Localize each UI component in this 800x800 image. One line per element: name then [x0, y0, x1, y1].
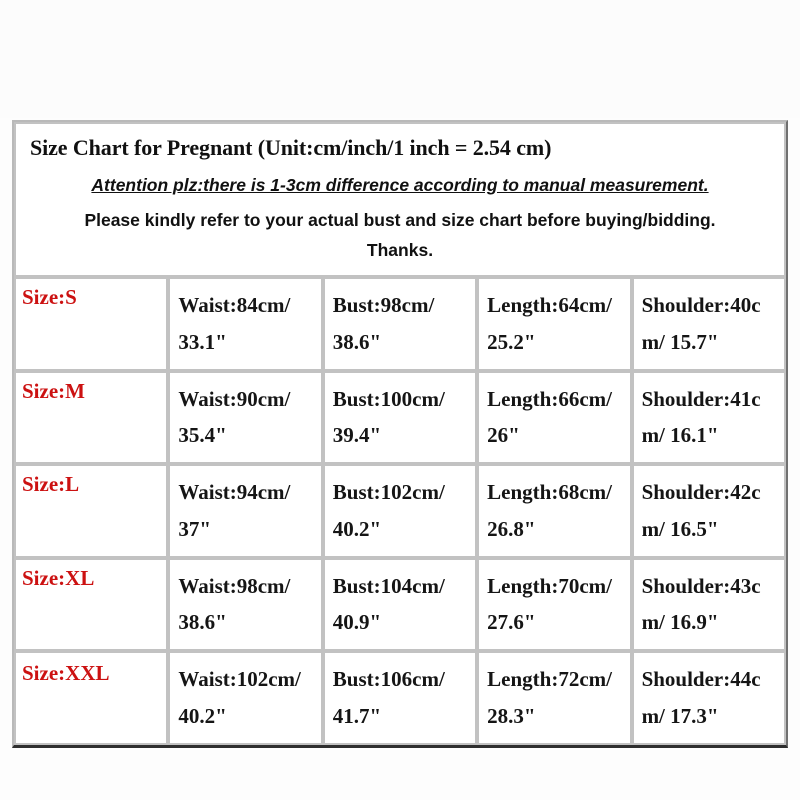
shoulder-cell-l: Shoulder:42cm/ 16.5" [632, 464, 786, 558]
size-label: Size:XXL [22, 661, 162, 686]
waist-value: Waist:102cm/ 40.2" [178, 661, 314, 735]
length-cell-m: Length:66cm/ 26" [477, 371, 631, 465]
size-cell-xxl: Size:XXL [14, 651, 168, 745]
size-cell-xl: Size:XL [14, 558, 168, 652]
size-chart-body: Size Chart for Pregnant (Unit:cm/inch/1 … [14, 122, 786, 745]
shoulder-cell-m: Shoulder:41cm/ 16.1" [632, 371, 786, 465]
waist-value: Waist:84cm/ 33.1" [178, 287, 314, 361]
waist-cell-m: Waist:90cm/ 35.4" [168, 371, 322, 465]
length-value: Length:72cm/ 28.3" [487, 661, 623, 735]
bust-cell-l: Bust:102cm/ 40.2" [323, 464, 477, 558]
length-value: Length:70cm/ 27.6" [487, 568, 623, 642]
size-cell-m: Size:M [14, 371, 168, 465]
bust-cell-m: Bust:100cm/ 39.4" [323, 371, 477, 465]
shoulder-value: Shoulder:42cm/ 16.5" [642, 474, 778, 548]
bust-value: Bust:102cm/ 40.2" [333, 474, 469, 548]
size-label: Size:S [22, 285, 162, 310]
bust-value: Bust:106cm/ 41.7" [333, 661, 469, 735]
size-label: Size:M [22, 379, 162, 404]
bust-value: Bust:100cm/ 39.4" [333, 381, 469, 455]
bust-value: Bust:104cm/ 40.9" [333, 568, 469, 642]
size-cell-l: Size:L [14, 464, 168, 558]
header-row: Size Chart for Pregnant (Unit:cm/inch/1 … [14, 122, 786, 277]
waist-value: Waist:90cm/ 35.4" [178, 381, 314, 455]
size-chart-page: Size Chart for Pregnant (Unit:cm/inch/1 … [0, 0, 800, 800]
waist-value: Waist:94cm/ 37" [178, 474, 314, 548]
attention-notice: Attention plz:there is 1-3cm difference … [24, 174, 776, 197]
buying-note: Please kindly refer to your actual bust … [24, 208, 776, 233]
shoulder-cell-s: Shoulder:40cm/ 15.7" [632, 277, 786, 371]
shoulder-value: Shoulder:41cm/ 16.1" [642, 381, 778, 455]
length-cell-l: Length:68cm/ 26.8" [477, 464, 631, 558]
top-whitespace-band [0, 0, 800, 118]
table-row: Size:XL Waist:98cm/ 38.6" Bust:104cm/ 40… [14, 558, 786, 652]
waist-value: Waist:98cm/ 38.6" [178, 568, 314, 642]
bust-value: Bust:98cm/ 38.6" [333, 287, 469, 361]
length-cell-xxl: Length:72cm/ 28.3" [477, 651, 631, 745]
table-row: Size:M Waist:90cm/ 35.4" Bust:100cm/ 39.… [14, 371, 786, 465]
bust-cell-xxl: Bust:106cm/ 41.7" [323, 651, 477, 745]
waist-cell-l: Waist:94cm/ 37" [168, 464, 322, 558]
waist-cell-s: Waist:84cm/ 33.1" [168, 277, 322, 371]
length-value: Length:68cm/ 26.8" [487, 474, 623, 548]
bust-cell-s: Bust:98cm/ 38.6" [323, 277, 477, 371]
size-cell-s: Size:S [14, 277, 168, 371]
size-label: Size:XL [22, 566, 162, 591]
table-row: Size:S Waist:84cm/ 33.1" Bust:98cm/ 38.6… [14, 277, 786, 371]
bust-cell-xl: Bust:104cm/ 40.9" [323, 558, 477, 652]
size-chart-container: Size Chart for Pregnant (Unit:cm/inch/1 … [12, 120, 788, 748]
shoulder-cell-xl: Shoulder:43cm/ 16.9" [632, 558, 786, 652]
shoulder-value: Shoulder:44cm/ 17.3" [642, 661, 778, 735]
length-value: Length:64cm/ 25.2" [487, 287, 623, 361]
shoulder-value: Shoulder:40cm/ 15.7" [642, 287, 778, 361]
length-value: Length:66cm/ 26" [487, 381, 623, 455]
size-label: Size:L [22, 472, 162, 497]
shoulder-cell-xxl: Shoulder:44cm/ 17.3" [632, 651, 786, 745]
length-cell-xl: Length:70cm/ 27.6" [477, 558, 631, 652]
length-cell-s: Length:64cm/ 25.2" [477, 277, 631, 371]
table-row: Size:L Waist:94cm/ 37" Bust:102cm/ 40.2"… [14, 464, 786, 558]
shoulder-value: Shoulder:43cm/ 16.9" [642, 568, 778, 642]
waist-cell-xl: Waist:98cm/ 38.6" [168, 558, 322, 652]
thanks-note: Thanks. [24, 238, 776, 263]
page-title: Size Chart for Pregnant (Unit:cm/inch/1 … [24, 134, 776, 162]
table-row: Size:XXL Waist:102cm/ 40.2" Bust:106cm/ … [14, 651, 786, 745]
waist-cell-xxl: Waist:102cm/ 40.2" [168, 651, 322, 745]
size-chart-table: Size Chart for Pregnant (Unit:cm/inch/1 … [12, 120, 788, 748]
header-cell: Size Chart for Pregnant (Unit:cm/inch/1 … [14, 122, 786, 277]
